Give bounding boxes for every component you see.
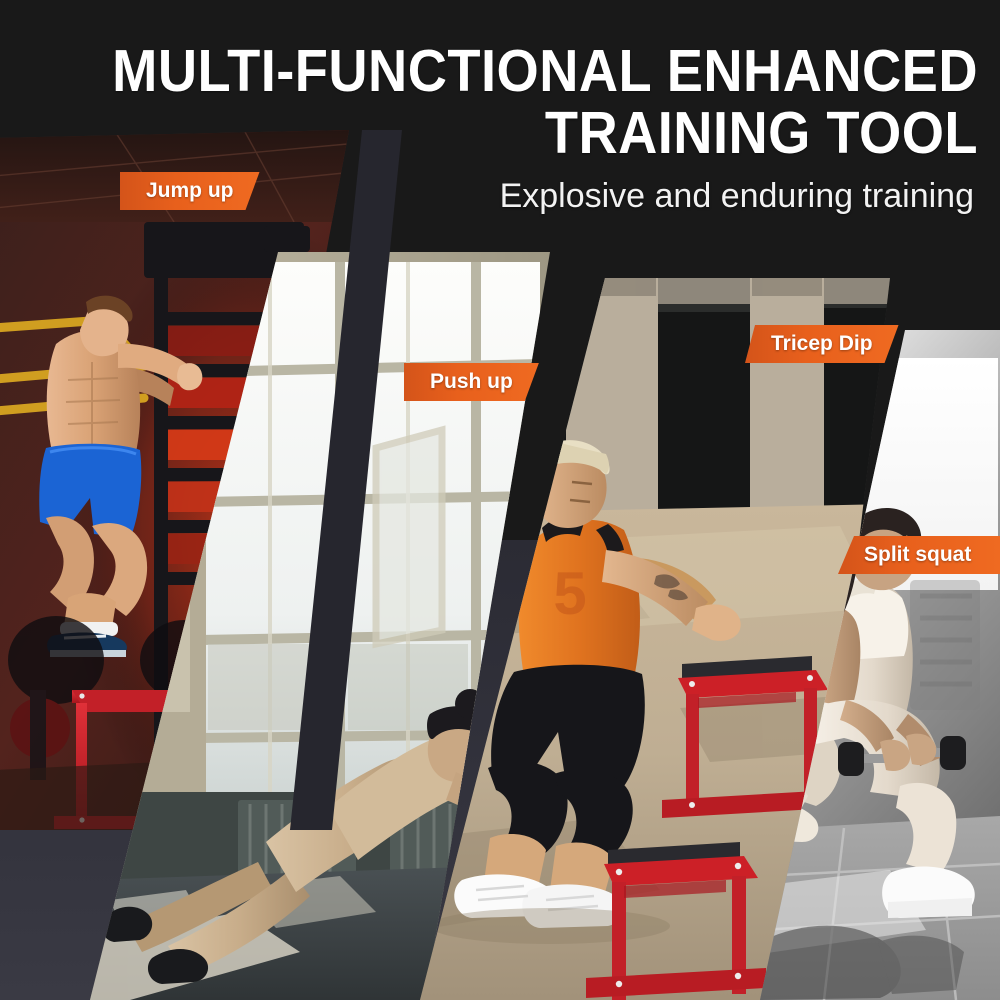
poster-canvas: 5 <box>0 0 1000 1000</box>
page-subtitle: Explosive and enduring training <box>0 176 978 216</box>
page-title-line1: MULTI-FUNCTIONAL ENHANCED <box>78 40 978 102</box>
badge-split-squat: Split squat <box>838 536 1000 574</box>
header: MULTI-FUNCTIONAL ENHANCED TRAINING TOOL … <box>0 0 1000 250</box>
badge-push-up: Push up <box>404 363 539 401</box>
svg-text:5: 5 <box>553 560 586 627</box>
badge-tricep-dip: Tricep Dip <box>745 325 899 363</box>
page-title-line2: TRAINING TOOL <box>78 102 978 164</box>
